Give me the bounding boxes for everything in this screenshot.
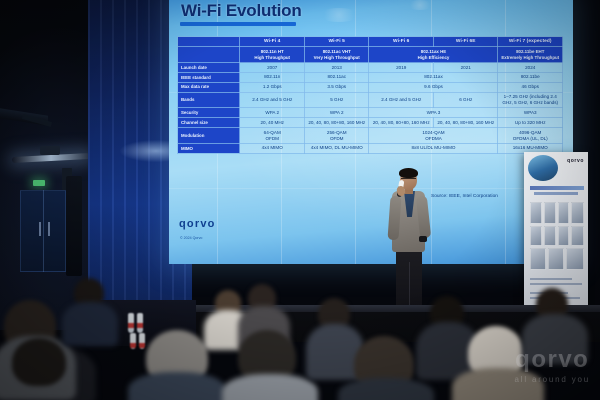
banner-product-tile	[548, 248, 564, 270]
slide-copyright: © 2024 Qorvo	[180, 236, 202, 240]
table-row: MIMO4x4 MIMO4x4 MIMO, DL MU-MIMO8x8 UL/D…	[178, 143, 563, 153]
banner-product-tile	[571, 202, 584, 224]
audience-member-body	[128, 372, 226, 400]
table-row-label-5: Security	[178, 108, 240, 118]
table-cell-r3-c3: 9.6 Gbps	[369, 82, 498, 92]
table-cell-r2-c4: 802.11be	[498, 72, 563, 82]
slide-title: Wi-Fi Evolution	[181, 1, 302, 21]
banner-hero-photo	[528, 155, 558, 181]
table-cell-r6-c5: Up to 320 MHz	[498, 118, 563, 128]
audience-member-head	[12, 338, 66, 386]
speaker-hair	[399, 168, 418, 178]
table-cell-r7-c3: 1024-QAMOFDMA	[369, 128, 498, 144]
door-handle-right	[48, 222, 50, 236]
table-body: Launch date20072013201920212024IEEE stan…	[178, 63, 563, 154]
exit-sign	[33, 180, 45, 186]
screen-highlight	[407, 0, 433, 10]
slide-brand-logo: qorvo	[179, 218, 216, 230]
table-cell-r1-c4: 2021	[433, 63, 498, 73]
table-row-label-1: Launch date	[178, 63, 240, 73]
table-cell-r4-c4: 6 GHz	[433, 92, 498, 108]
water-bottle	[139, 333, 145, 349]
banner-product-tile	[558, 202, 569, 224]
table-cell-r8-c1: 4x4 MIMO	[240, 143, 305, 153]
table-cell-r5-c4: WPA3	[498, 108, 563, 118]
banner-product-tile	[530, 248, 546, 270]
banner-text-line	[530, 283, 582, 285]
table-cell-r4-c1: 2.4 GHz and 5 GHz	[240, 92, 305, 108]
audience-member-body	[338, 378, 434, 400]
conference-photo-scene: Wi-Fi Evolution Wi-Fi 4Wi-Fi 5Wi-Fi 6Wi-…	[0, 0, 600, 400]
table-col-header-5: Wi-Fi 7 (expected)	[498, 37, 563, 47]
banner-subline-bar	[534, 192, 578, 195]
audience-member-body	[522, 314, 588, 364]
table-cell-r5-c3: WPA 3	[369, 108, 498, 118]
table-cell-r2-c2: 802.11ac	[304, 72, 369, 82]
table-cell-r8-c2: 4x4 MIMO, DL MU-MIMO	[304, 143, 369, 153]
table-col-header-3: Wi-Fi 6	[369, 37, 434, 47]
table-standard-header-2: 802.11ac VHTVery High Throughput	[304, 47, 369, 63]
table-row: Launch date20072013201920212024	[178, 63, 563, 73]
water-bottle	[130, 333, 136, 349]
table-cell-r2-c1: 802.11n	[240, 72, 305, 82]
banner-text-line	[530, 278, 572, 280]
title-underline	[180, 22, 296, 26]
table-row: Modulation64-QAMOFDM256-QAMOFDM1024-QAMO…	[178, 128, 563, 144]
table-cell-r3-c2: 3.5 Gbps	[304, 82, 369, 92]
screen-highlight	[319, 8, 359, 22]
table-cell-r2-c3: 802.11ax	[369, 72, 498, 82]
table-cell-r7-c1: 64-QAMOFDM	[240, 128, 305, 144]
audience-member-body	[452, 368, 544, 400]
projection-screen: Wi-Fi Evolution Wi-Fi 4Wi-Fi 5Wi-Fi 6Wi-…	[169, 0, 573, 264]
table-cell-r6-c1: 20, 40 MHz	[240, 118, 305, 128]
banner-product-tile	[544, 202, 556, 224]
banner-product-tile	[530, 226, 542, 246]
table-corner-cell	[178, 37, 240, 47]
table-cell-r6-c4: 20, 40, 80, 80+80, 160 MHz	[433, 118, 498, 128]
table-cell-r6-c2: 20, 40, 80, 80+80, 160 MHz	[304, 118, 369, 128]
table-cell-r7-c2: 256-QAMOFDM	[304, 128, 369, 144]
table-cell-r4-c5: 1–7.25 GHz (including 2.4 GHz, 5 GHz, 6 …	[498, 92, 563, 108]
table-header-standards: 802.11n HTHigh Throughput802.11ac VHTVer…	[178, 47, 563, 63]
table-cell-r3-c1: 1.2 Gbps	[240, 82, 305, 92]
table-row: Bands2.4 GHz and 5 GHz5 GHz2.4 GHz and 5…	[178, 92, 563, 108]
table-cell-r5-c2: WPA 2	[304, 108, 369, 118]
screen-panel-seam-h	[169, 188, 573, 189]
table-standard-header-1: 802.11n HTHigh Throughput	[240, 47, 305, 63]
banner-product-tile	[571, 226, 584, 246]
table-row: IEEE standard802.11n802.11ac802.11ax802.…	[178, 72, 563, 82]
table-row: Channel size20, 40 MHz20, 40, 80, 80+80,…	[178, 118, 563, 128]
presentation-clicker	[419, 236, 427, 242]
pa-speaker-stack	[66, 176, 82, 276]
table-header-generations: Wi-Fi 4Wi-Fi 5Wi-Fi 6Wi-Fi 6EWi-Fi 7 (ex…	[178, 37, 563, 47]
table-cell-r6-c3: 20, 40, 80, 80+80, 160 MHz	[369, 118, 434, 128]
door-seam	[43, 190, 44, 272]
banner-product-tile	[566, 248, 584, 270]
table-col-header-2: Wi-Fi 5	[304, 37, 369, 47]
table-cell-r1-c5: 2024	[498, 63, 563, 73]
table-row-label-8: MIMO	[178, 143, 240, 153]
table-cell-r7-c4: 4096-QAMOFDMA (UL, DL)	[498, 128, 563, 144]
banner-logo: qorvo	[567, 158, 584, 164]
banner-product-tile	[544, 226, 556, 246]
table-row-label-7: Modulation	[178, 128, 240, 144]
table-row-label-2: IEEE standard	[178, 72, 240, 82]
audience-member-body	[62, 302, 118, 346]
table-cell-r3-c4: 46 Gbps	[498, 82, 563, 92]
banner-headline-bar	[530, 186, 584, 190]
table-cell-r4-c2: 5 GHz	[304, 92, 369, 108]
table-col-header-4: Wi-Fi 6E	[433, 37, 498, 47]
table-col-header-1: Wi-Fi 4	[240, 37, 305, 47]
banner-product-tile	[530, 202, 542, 224]
table-cell-r1-c2: 2013	[304, 63, 369, 73]
table-row-label-3: Max data rate	[178, 82, 240, 92]
wifi-evolution-table: Wi-Fi 4Wi-Fi 5Wi-Fi 6Wi-Fi 6EWi-Fi 7 (ex…	[177, 36, 563, 154]
water-bottle	[128, 313, 134, 333]
table-standard-header-4: 802.11be EHTExtremely High Throughput	[498, 47, 563, 63]
table-row-label-6: Channel size	[178, 118, 240, 128]
audience-member-body	[222, 374, 318, 400]
banner-product-tile	[558, 226, 569, 246]
table-cell-r8-c3: 8x8 UL/DL MU-MIMO	[369, 143, 498, 153]
table-cell-r5-c1: WPA 2	[240, 108, 305, 118]
door-handle-left	[39, 222, 41, 236]
table-cell-r1-c1: 2007	[240, 63, 305, 73]
table-standard-header-3: 802.11ax HEHigh Efficiency	[369, 47, 498, 63]
spot-light-housing	[40, 146, 60, 155]
source-note: Source: IEEE, Intel Corporation	[431, 194, 498, 199]
table-row-label-4: Bands	[178, 92, 240, 108]
table-row: SecurityWPA 2WPA 2WPA 3WPA3	[178, 108, 563, 118]
water-bottle	[137, 313, 143, 333]
speaker-leg-seam	[409, 262, 410, 311]
table-row: Max data rate1.2 Gbps3.5 Gbps9.6 Gbps46 …	[178, 82, 563, 92]
table-cell-r4-c3: 2.4 GHz and 5 GHz	[369, 92, 434, 108]
table-corner-cell-2	[178, 47, 240, 63]
table-cell-r1-c3: 2019	[369, 63, 434, 73]
